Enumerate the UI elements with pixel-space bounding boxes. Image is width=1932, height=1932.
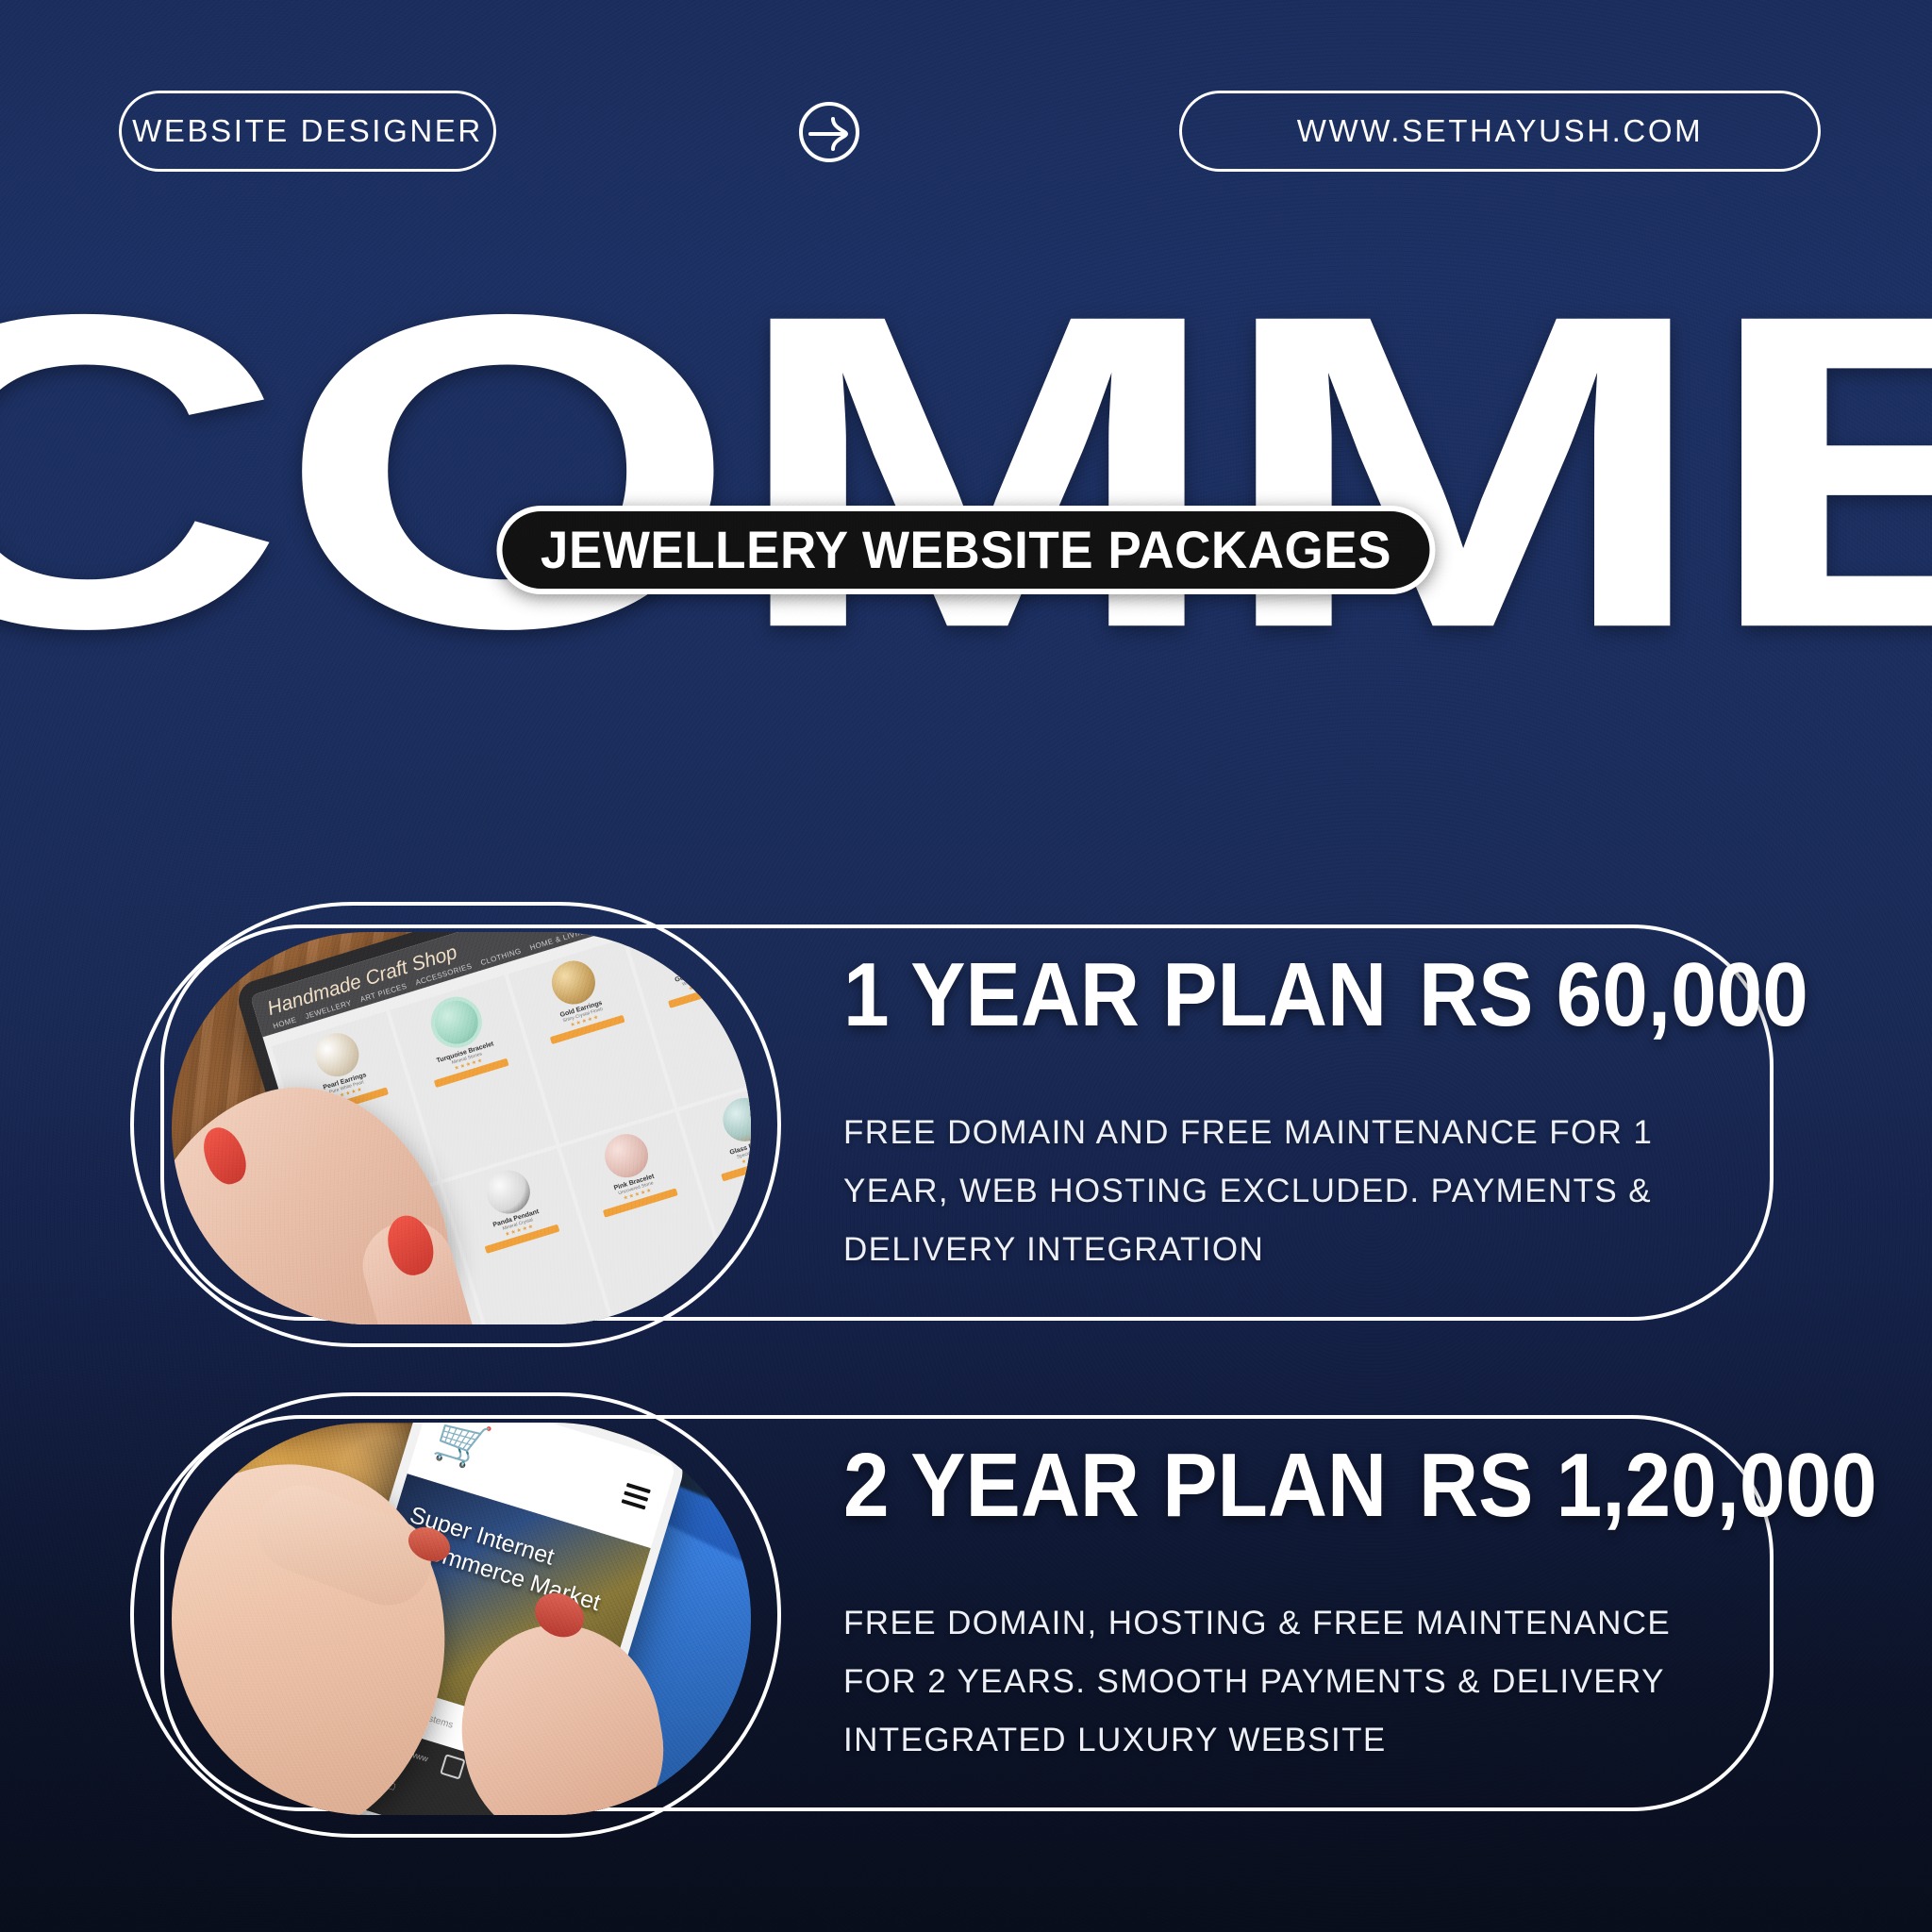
plan-name: 2 YEAR PLAN (843, 1432, 1387, 1538)
plan-price: RS 1,20,000 (1419, 1432, 1877, 1538)
poster-canvas: WEBSITE DESIGNER WWW.SETHAYUSH.COM ECOMM… (0, 0, 1932, 1932)
tab-icon (440, 1754, 465, 1779)
plan-header-row: 1 YEAR PLAN RS 60,000 (843, 960, 1711, 1051)
plan-card-2[interactable]: 🛒 Super Internet eCommerce Market eShop … (160, 1415, 1774, 1811)
plan-details: 1 YEAR PLAN RS 60,000 FREE DOMAIN AND FR… (843, 960, 1711, 1279)
product-image (717, 1092, 751, 1146)
plan-description: FREE DOMAIN, HOSTING & FREE MAINTENANCE … (843, 1594, 1674, 1770)
plan-price: RS 60,000 (1419, 941, 1808, 1047)
tablet-jewellery-photo: Handmade Craft Shop HOME JEWELLERY ART P… (172, 932, 751, 1324)
role-badge[interactable]: WEBSITE DESIGNER (119, 91, 496, 172)
plan-header-row: 2 YEAR PLAN RS 1,20,000 (843, 1451, 1711, 1541)
plan-photo-frame: 🛒 Super Internet eCommerce Market eShop … (130, 1392, 781, 1838)
website-url-badge[interactable]: WWW.SETHAYUSH.COM (1179, 91, 1821, 172)
website-url-label: WWW.SETHAYUSH.COM (1297, 113, 1703, 149)
shopping-cart-icon: 🛒 (430, 1423, 494, 1472)
plan-description: FREE DOMAIN AND FREE MAINTENANCE FOR 1 Y… (843, 1104, 1674, 1279)
page-title: ECOMMERCE (0, 283, 1932, 660)
header-bar: WEBSITE DESIGNER WWW.SETHAYUSH.COM (0, 91, 1932, 177)
arrow-right-circle-icon[interactable] (797, 100, 861, 164)
plan-card-1[interactable]: Handmade Craft Shop HOME JEWELLERY ART P… (160, 924, 1774, 1321)
page-title-text: ECOMMERCE (0, 275, 1932, 668)
plan-photo-frame: Handmade Craft Shop HOME JEWELLERY ART P… (130, 902, 781, 1347)
hero-subtitle-badge: JEWELLERY WEBSITE PACKAGES (496, 506, 1435, 594)
hamburger-menu-icon (620, 1478, 652, 1514)
hero-subtitle-label: JEWELLERY WEBSITE PACKAGES (541, 520, 1391, 581)
phone-ecommerce-photo: 🛒 Super Internet eCommerce Market eShop … (172, 1423, 751, 1815)
hero-title-block: ECOMMERCE (0, 283, 1932, 660)
plan-name: 1 YEAR PLAN (843, 941, 1387, 1047)
plan-details: 2 YEAR PLAN RS 1,20,000 FREE DOMAIN, HOS… (843, 1451, 1711, 1770)
role-badge-label: WEBSITE DESIGNER (132, 113, 483, 149)
